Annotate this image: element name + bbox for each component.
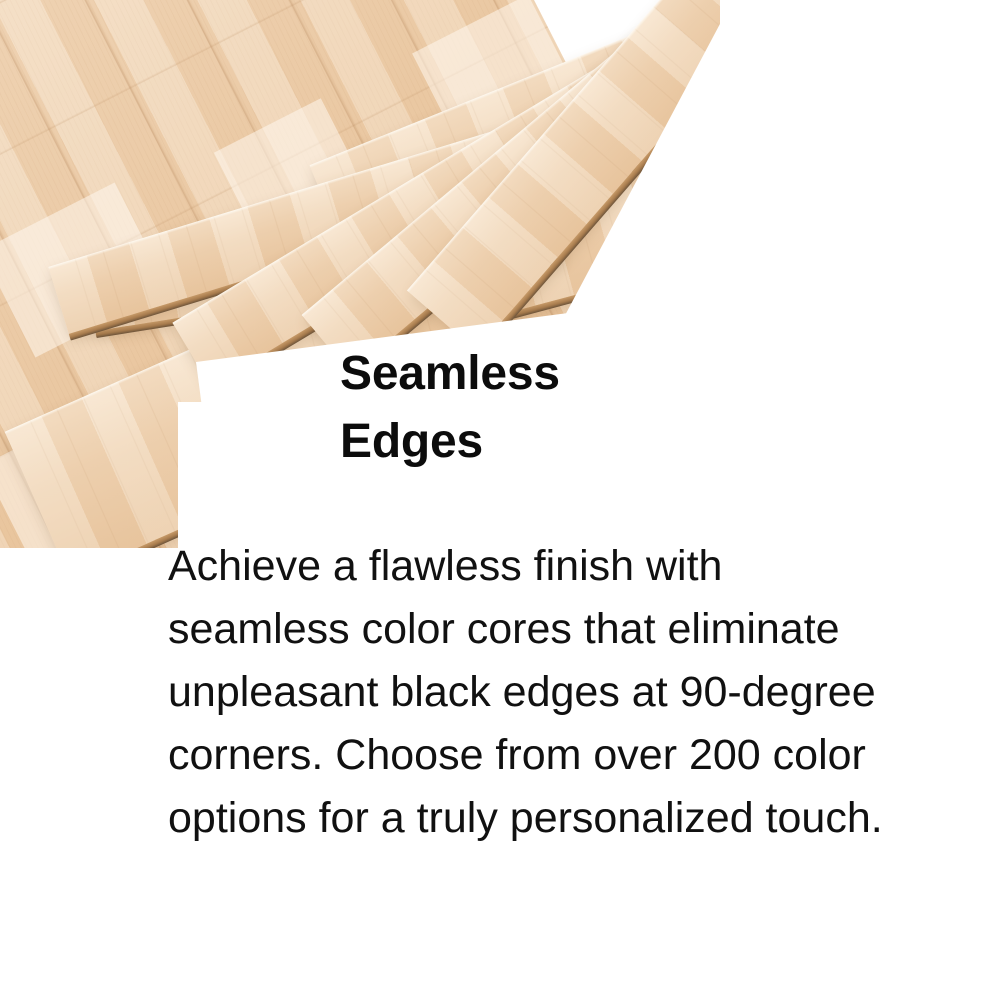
feature-description: Achieve a flawless finish with seamless … [168,535,898,850]
product-feature-card: Seamless Edges Achieve a flawless finish… [0,0,1000,1000]
feature-heading: Seamless Edges [340,340,670,476]
flooring-planks-photo [0,0,720,580]
